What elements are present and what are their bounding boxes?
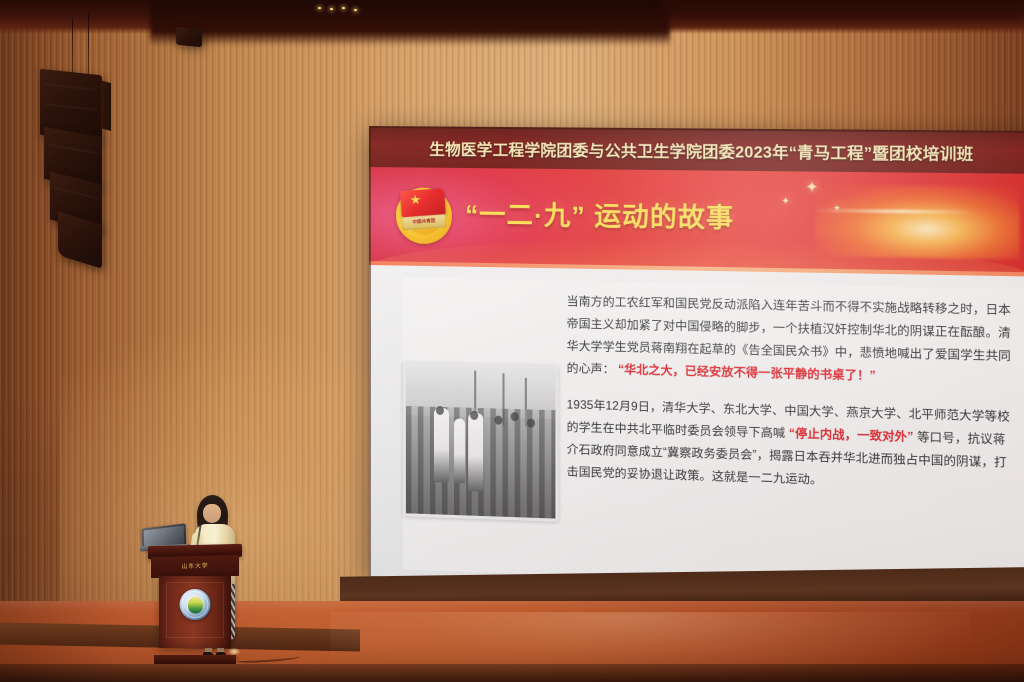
lectern-base xyxy=(154,655,236,664)
photo-figure-head xyxy=(511,412,519,421)
ceiling-beam xyxy=(150,0,670,46)
communist-youth-league-emblem: 中国共青团 xyxy=(396,187,452,244)
sparkle-icon: ✦ xyxy=(833,203,841,214)
ceiling-shadow-right xyxy=(660,0,1024,26)
sparkle-icon: ✦ xyxy=(781,196,790,207)
speaker-grill-line xyxy=(45,83,97,90)
photo-figure-head xyxy=(470,411,478,420)
paragraph-1: 当南方的工农红军和国民党反动派陷入连年苦斗而不得不实施战略转移之时，日本帝国主义… xyxy=(567,291,1016,392)
university-emblem xyxy=(180,589,211,620)
speaker-grill-line xyxy=(45,103,97,110)
speaker-side-panel xyxy=(101,80,111,130)
event-banner-text: 生物医学工程学院团委与公共卫生学院团委2023年“青马工程”暨团校培训班 xyxy=(429,137,973,164)
projection-screen: 生物医学工程学院团委与公共卫生学院团委2023年“青马工程”暨团校培训班 ✦ ✦… xyxy=(369,126,1024,605)
speaker-grill-line xyxy=(54,187,98,200)
emblem-flag xyxy=(400,188,446,218)
historical-photo-image xyxy=(406,365,556,519)
slide-text-column: 当南方的工农红军和国民党反动派陷入连年苦斗而不得不实施战略转移之时，日本帝国主义… xyxy=(567,291,1016,498)
ceiling-speaker xyxy=(176,27,202,48)
lectern: 山东大学 xyxy=(156,545,234,657)
photo-figure xyxy=(454,418,465,483)
paragraph-2: 1935年12月9日，清华大学、东北大学、中国大学、燕京大学、北平师范大学等校的… xyxy=(567,394,1016,498)
presenter-face xyxy=(203,504,221,523)
lectern-nameplate: 山东大学 xyxy=(151,555,239,578)
slide-body: 当南方的工农红军和国民党反动派陷入连年苦斗而不得不实施战略转移之时，日本帝国主义… xyxy=(369,265,1024,605)
historical-photo xyxy=(403,362,559,522)
photo-figure xyxy=(468,413,483,492)
stage-front-edge xyxy=(0,664,1024,682)
ceiling-light-icon xyxy=(342,7,345,9)
ceiling-light-icon xyxy=(318,7,321,9)
ceiling-light-icon xyxy=(330,8,333,10)
paragraph-1-highlight: “华北之大，已经安放不得一张平静的书桌了！” xyxy=(618,363,876,383)
photo-figure-head xyxy=(436,406,444,415)
auditorium-scene: 生物医学工程学院团委与公共卫生学院团委2023年“青马工程”暨团校培训班 ✦ ✦… xyxy=(0,0,1024,682)
slide-header: ✦ ✦ ✦ 中国共青团 “一二·九” 运动的故事 xyxy=(369,167,1024,277)
paragraph-2-run-3: 等口号，抗议蒋介石政府同意成立“冀察政务委员会”，揭露日本吞并华北进而独占中国的… xyxy=(567,430,1007,486)
lectern-nameplate-text: 山东大学 xyxy=(155,556,234,577)
speaker-grill-line xyxy=(49,144,98,155)
emblem-motto-text: 中国共青团 xyxy=(403,215,444,230)
paragraph-2-highlight: “停止内战，一致对外” xyxy=(789,427,914,444)
ceiling-light-icon xyxy=(354,9,357,11)
photo-figure-head xyxy=(494,416,502,425)
event-banner: 生物医学工程学院团委与公共卫生学院团委2023年“青马工程”暨团校培训班 xyxy=(369,126,1024,174)
sparkle-icon: ✦ xyxy=(805,178,818,197)
slide-title: “一二·九” 运动的故事 xyxy=(465,194,734,235)
photo-figure xyxy=(434,408,449,483)
photo-figure-head xyxy=(527,418,535,427)
